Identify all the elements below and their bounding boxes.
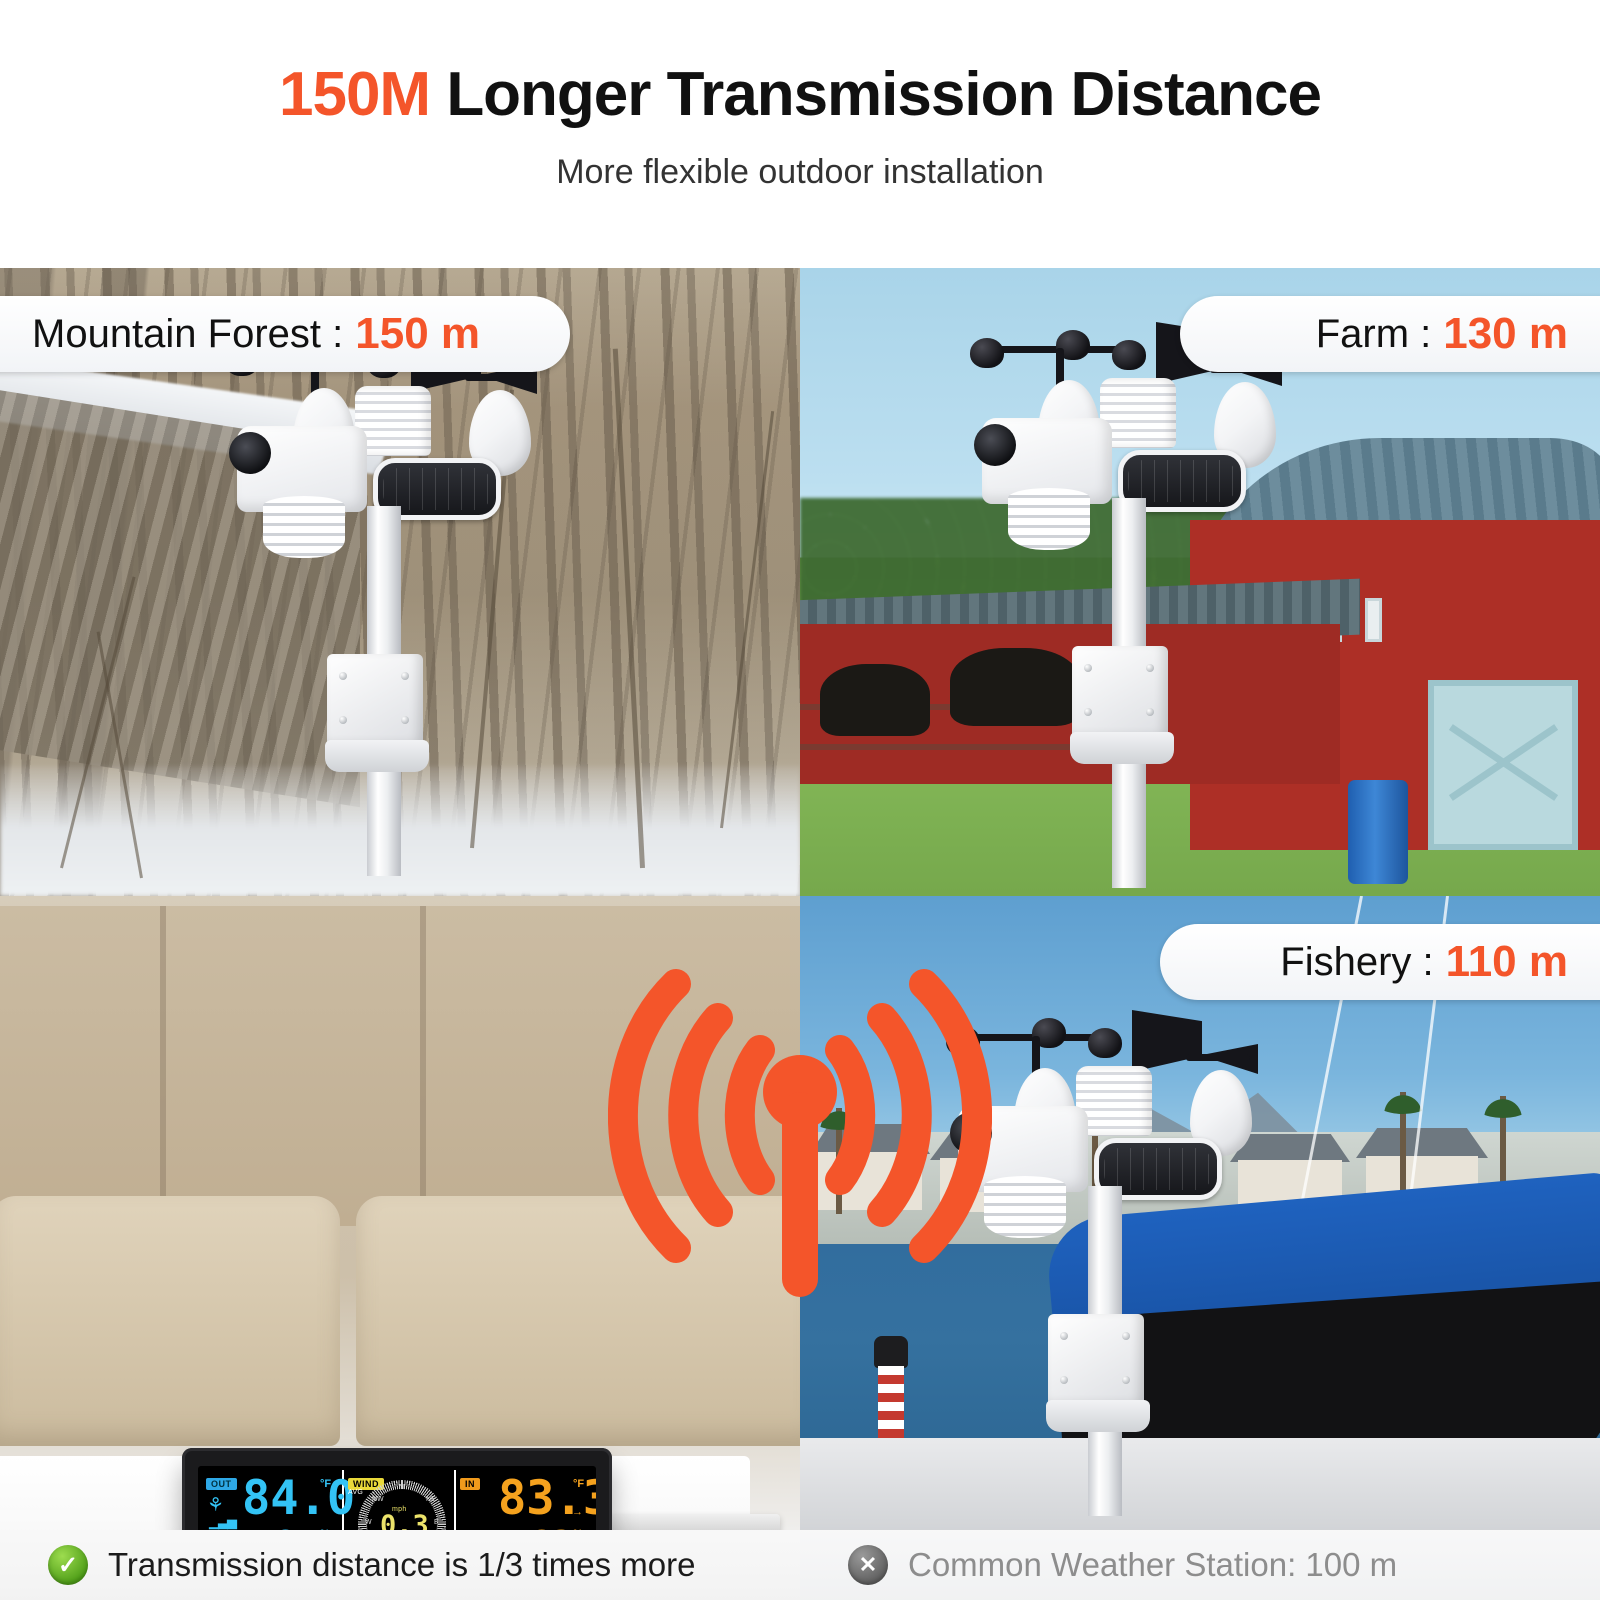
wind-vane-tail (1132, 1010, 1202, 1072)
bracket-foot (1070, 732, 1174, 764)
page-subtitle: More flexible outdoor installation (0, 153, 1600, 192)
sofa-backrest (0, 906, 800, 1226)
screw (1060, 1332, 1068, 1340)
screw (1146, 708, 1154, 716)
anemometer-cup (1112, 340, 1146, 370)
compass-dir-w: W (365, 1519, 372, 1526)
outdoor-temp-unit: °F (320, 1478, 331, 1490)
compass-dir-nw: NW (372, 1496, 384, 1503)
compass-dir-e: E (434, 1519, 439, 1526)
barn-window (1365, 598, 1382, 642)
mounting-bracket (327, 654, 423, 748)
wind-vane-arm (465, 374, 529, 381)
screw (339, 716, 347, 724)
indoor-temp-unit: °F (573, 1478, 584, 1490)
wind-speed-value: 0.3 (380, 1514, 429, 1530)
temperature-shield-stack (263, 496, 345, 558)
compass-dir-ne: NE (426, 1496, 436, 1503)
panel-label-text: Mountain Forest : (32, 312, 343, 357)
mounting-bracket (1048, 1314, 1144, 1408)
screw (401, 672, 409, 680)
horse (820, 664, 930, 736)
blue-barrel (1348, 780, 1408, 884)
screw (1084, 708, 1092, 716)
light-sensor-lens (229, 432, 271, 474)
panel-farm: Farm : 130 m (800, 268, 1600, 896)
screw (1146, 664, 1154, 672)
page-title: 150M Longer Transmission Distance (0, 62, 1600, 127)
light-sensor-lens (950, 1112, 992, 1154)
wind-vane-arm (1186, 1054, 1250, 1061)
palm-fronds (806, 1094, 872, 1130)
panel-distance-value: 150 m (355, 309, 480, 359)
barn-door (1428, 680, 1578, 850)
mounting-bracket (1072, 646, 1168, 740)
house (818, 1152, 922, 1210)
sofa-cushion (0, 1196, 340, 1446)
in-badge: IN (460, 1478, 480, 1490)
footer-competitor-text: Common Weather Station: 100 m (908, 1546, 1397, 1584)
signal-strength-icon: ▁▃▅ (209, 1514, 236, 1530)
cross-circle-icon: ✕ (848, 1545, 888, 1585)
label-fishery: Fishery : 110 m (1160, 924, 1600, 1000)
headline-accent: 150M (279, 60, 430, 129)
wind-sublabel: AVG (348, 1489, 363, 1496)
temperature-shield-stack (984, 1176, 1066, 1238)
anemometer-cup (946, 1026, 980, 1056)
screw (339, 672, 347, 680)
bracket-foot (1046, 1400, 1150, 1432)
screw (401, 716, 409, 724)
sofa-cushion (356, 1196, 800, 1446)
screw (1122, 1332, 1130, 1340)
outdoor-sensor-unit (936, 996, 1296, 1516)
lcd-out-tag: OUT (206, 1474, 237, 1492)
buoy-lamp (874, 1336, 908, 1368)
anemometer-cup (1088, 1028, 1122, 1058)
anemometer-cup (970, 338, 1004, 368)
scene-grid: Mountain Forest : 150 m (0, 268, 1600, 1530)
footer-competitor: ✕ Common Weather Station: 100 m (800, 1530, 1600, 1600)
footer-advantage: ✓ Transmission distance is 1/3 times mor… (0, 1530, 800, 1600)
screw (1084, 664, 1092, 672)
light-sensor-lens (974, 424, 1016, 466)
panel-label-text: Farm : (1316, 312, 1432, 357)
panel-label-text: Fishery : (1280, 940, 1433, 985)
panel-fishery: Fishery : 110 m (800, 896, 1600, 1530)
indoor-temp-trend-icon: → (572, 1506, 583, 1518)
comparison-footer: ✓ Transmission distance is 1/3 times mor… (0, 1530, 1600, 1600)
palm-fronds (1370, 1078, 1436, 1114)
bracket-foot (325, 740, 429, 772)
header: 150M Longer Transmission Distance More f… (0, 0, 1600, 268)
compass-dir-n: N (399, 1484, 404, 1491)
panel-living-room: OUT ⚘ ▁▃▅ 84.0 °F 81 % WIND AVG N S W (0, 896, 800, 1530)
out-badge: OUT (206, 1478, 237, 1490)
screw (1060, 1376, 1068, 1384)
lcd-divider (454, 1470, 456, 1530)
lcd-in-tag: IN (460, 1474, 480, 1492)
lcd-screen: OUT ⚘ ▁▃▅ 84.0 °F 81 % WIND AVG N S W (198, 1466, 596, 1530)
sofa-seam (160, 906, 166, 1226)
temperature-shield-stack (1008, 488, 1090, 550)
sofa-seam (420, 906, 426, 1226)
outdoor-temperature: 84.0 (242, 1478, 355, 1520)
label-mountain-forest: Mountain Forest : 150 m (0, 296, 570, 372)
palm-fronds (1470, 1082, 1536, 1118)
outdoor-sensor-unit (215, 316, 575, 876)
headline-main: Longer Transmission Distance (446, 60, 1321, 129)
screw (1122, 1376, 1130, 1384)
check-circle-icon: ✓ (48, 1545, 88, 1585)
label-farm: Farm : 130 m (1180, 296, 1600, 372)
footer-advantage-text: Transmission distance is 1/3 times more (108, 1546, 695, 1584)
panel-distance-value: 130 m (1443, 309, 1568, 359)
panel-mountain-forest: Mountain Forest : 150 m (0, 268, 800, 896)
panel-distance-value: 110 m (1446, 937, 1568, 987)
outdoor-sensor-unit (960, 308, 1320, 888)
weather-station-console: OUT ⚘ ▁▃▅ 84.0 °F 81 % WIND AVG N S W (182, 1448, 612, 1530)
house-roof (1356, 1128, 1488, 1158)
